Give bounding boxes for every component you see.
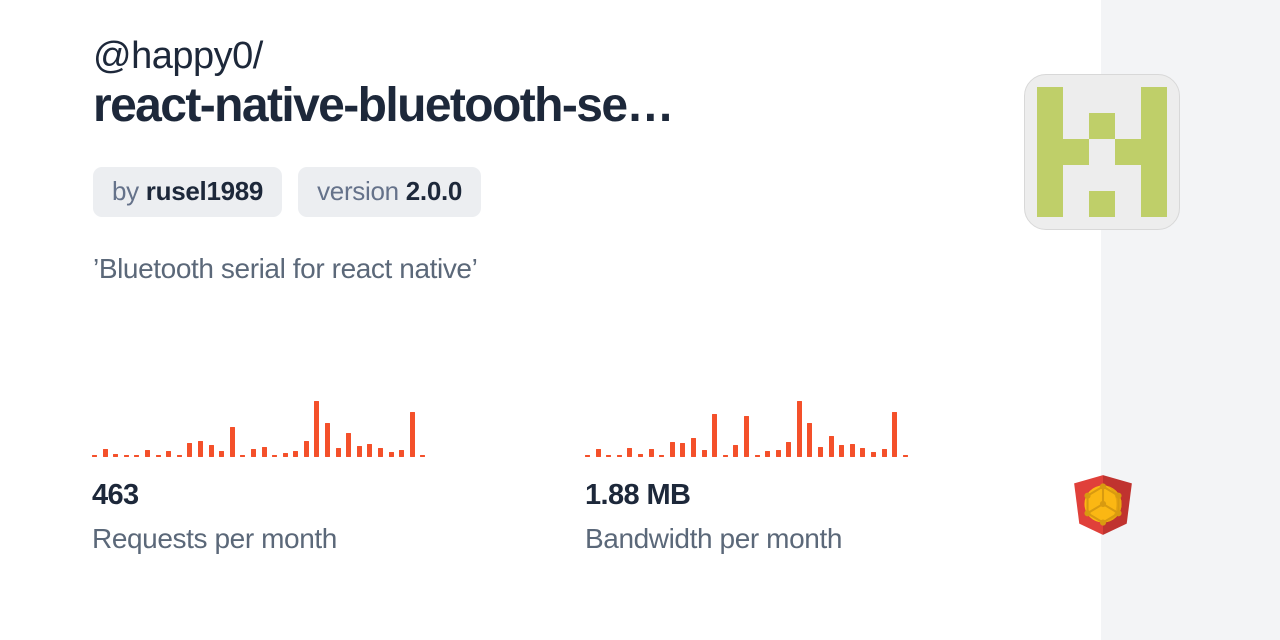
sparkline-bar xyxy=(829,436,834,457)
sparkline-bar xyxy=(336,448,341,457)
requests-sparkline xyxy=(92,395,412,457)
identicon-cell xyxy=(1141,87,1167,113)
identicon-cell xyxy=(1037,139,1063,165)
sparkline-bar xyxy=(156,455,161,457)
sparkline-bar xyxy=(283,453,288,457)
identicon-cell xyxy=(1089,165,1115,191)
requests-value: 463 xyxy=(92,477,552,513)
sparkline-bar xyxy=(892,412,897,457)
sparkline-bar xyxy=(399,450,404,457)
sparkline-bar xyxy=(219,451,224,457)
identicon-cell xyxy=(1141,139,1167,165)
identicon-cell xyxy=(1115,191,1141,217)
identicon-cell xyxy=(1115,165,1141,191)
bandwidth-label: Bandwidth per month xyxy=(585,521,1045,557)
identicon-cell xyxy=(1141,165,1167,191)
package-meta-badges: by rusel1989 version 2.0.0 xyxy=(93,167,481,217)
package-description: ’Bluetooth serial for react native’ xyxy=(93,250,477,288)
sparkline-bar xyxy=(617,455,622,457)
identicon-cell xyxy=(1089,191,1115,217)
stat-requests-per-month: 463 Requests per month xyxy=(92,395,552,557)
sparkline-bar xyxy=(113,454,118,457)
bandwidth-value: 1.88 MB xyxy=(585,477,1045,513)
sparkline-bar xyxy=(839,445,844,457)
identicon-cell xyxy=(1037,87,1063,113)
identicon-cell xyxy=(1063,113,1089,139)
requests-label: Requests per month xyxy=(92,521,552,557)
sparkline-bar xyxy=(765,451,770,457)
sparkline-bar xyxy=(627,448,632,457)
identicon-cell xyxy=(1063,139,1089,165)
sparkline-bar xyxy=(145,450,150,457)
identicon-cell xyxy=(1063,191,1089,217)
sparkline-bar xyxy=(733,445,738,457)
sparkline-bar xyxy=(240,455,245,457)
sparkline-bar xyxy=(596,449,601,457)
sparkline-bar xyxy=(389,452,394,457)
package-avatar xyxy=(1024,74,1180,230)
identicon-cell xyxy=(1115,87,1141,113)
sparkline-bar xyxy=(755,455,760,457)
sparkline-bar xyxy=(410,412,415,457)
sparkline-bar xyxy=(744,416,749,457)
identicon-cell xyxy=(1037,191,1063,217)
identicon-cell xyxy=(1115,113,1141,139)
sparkline-bar xyxy=(262,447,267,457)
version-badge: version 2.0.0 xyxy=(298,167,481,217)
sparkline-bar xyxy=(638,454,643,457)
sparkline-bar xyxy=(272,455,277,457)
package-header: @happy0/ react-native-bluetooth-se… xyxy=(93,33,913,135)
version-badge-prefix: version xyxy=(317,176,406,206)
sparkline-bar xyxy=(357,446,362,457)
sparkline-bar xyxy=(818,447,823,457)
sparkline-bar xyxy=(712,414,717,457)
sparkline-bar xyxy=(251,449,256,457)
sparkline-bar xyxy=(325,423,330,457)
author-badge: by rusel1989 xyxy=(93,167,282,217)
identicon-h-avatar xyxy=(1025,75,1179,229)
sparkline-bar xyxy=(723,455,728,457)
sparkline-bar xyxy=(420,455,425,457)
identicon-cell xyxy=(1063,165,1089,191)
identicon-cell xyxy=(1037,113,1063,139)
identicon-cell xyxy=(1037,165,1063,191)
identicon-cell xyxy=(1089,87,1115,113)
sparkline-bar xyxy=(124,455,129,457)
identicon-cell xyxy=(1141,191,1167,217)
sparkline-bar xyxy=(860,448,865,457)
jsdelivr-logo-icon xyxy=(1070,472,1136,538)
stat-bandwidth-per-month: 1.88 MB Bandwidth per month xyxy=(585,395,1045,557)
identicon-cell xyxy=(1115,139,1141,165)
identicon-cell xyxy=(1089,139,1115,165)
sparkline-bar xyxy=(680,443,685,457)
jsdelivr-logo xyxy=(1070,472,1136,538)
sparkline-bar xyxy=(702,450,707,457)
sparkline-bar xyxy=(134,455,139,457)
identicon-cell xyxy=(1141,113,1167,139)
sparkline-bar xyxy=(670,442,675,457)
sparkline-bar xyxy=(691,438,696,457)
sparkline-bar xyxy=(786,442,791,457)
sparkline-bar xyxy=(198,441,203,457)
sparkline-bar xyxy=(230,427,235,457)
package-card: @happy0/ react-native-bluetooth-se… by r… xyxy=(0,0,1101,640)
sparkline-bar xyxy=(103,449,108,457)
author-badge-value: rusel1989 xyxy=(146,176,263,206)
sparkline-bar xyxy=(606,455,611,457)
version-badge-value: 2.0.0 xyxy=(406,176,462,206)
sparkline-bar xyxy=(797,401,802,457)
identicon-cell xyxy=(1063,87,1089,113)
sparkline-bar xyxy=(166,451,171,457)
sparkline-bar xyxy=(776,450,781,457)
sparkline-bar xyxy=(903,455,908,457)
identicon-cell xyxy=(1089,113,1115,139)
sparkline-bar xyxy=(585,455,590,457)
sparkline-bar xyxy=(177,455,182,457)
bandwidth-sparkline xyxy=(585,395,905,457)
sparkline-bar xyxy=(378,448,383,457)
package-scope: @happy0/ xyxy=(93,33,913,79)
sparkline-bar xyxy=(209,445,214,457)
sparkline-bar xyxy=(314,401,319,457)
sparkline-bar xyxy=(304,441,309,457)
sparkline-bar xyxy=(850,444,855,457)
sparkline-bar xyxy=(871,452,876,457)
author-badge-prefix: by xyxy=(112,176,146,206)
sparkline-bar xyxy=(346,433,351,457)
sparkline-bar xyxy=(659,455,664,457)
sparkline-bar xyxy=(367,444,372,457)
sparkline-bar xyxy=(187,443,192,457)
package-name: react-native-bluetooth-se… xyxy=(93,77,913,135)
sparkline-bar xyxy=(293,451,298,457)
sparkline-bar xyxy=(92,455,97,457)
sparkline-bar xyxy=(882,449,887,457)
sparkline-bar xyxy=(807,423,812,457)
sparkline-bar xyxy=(649,449,654,457)
